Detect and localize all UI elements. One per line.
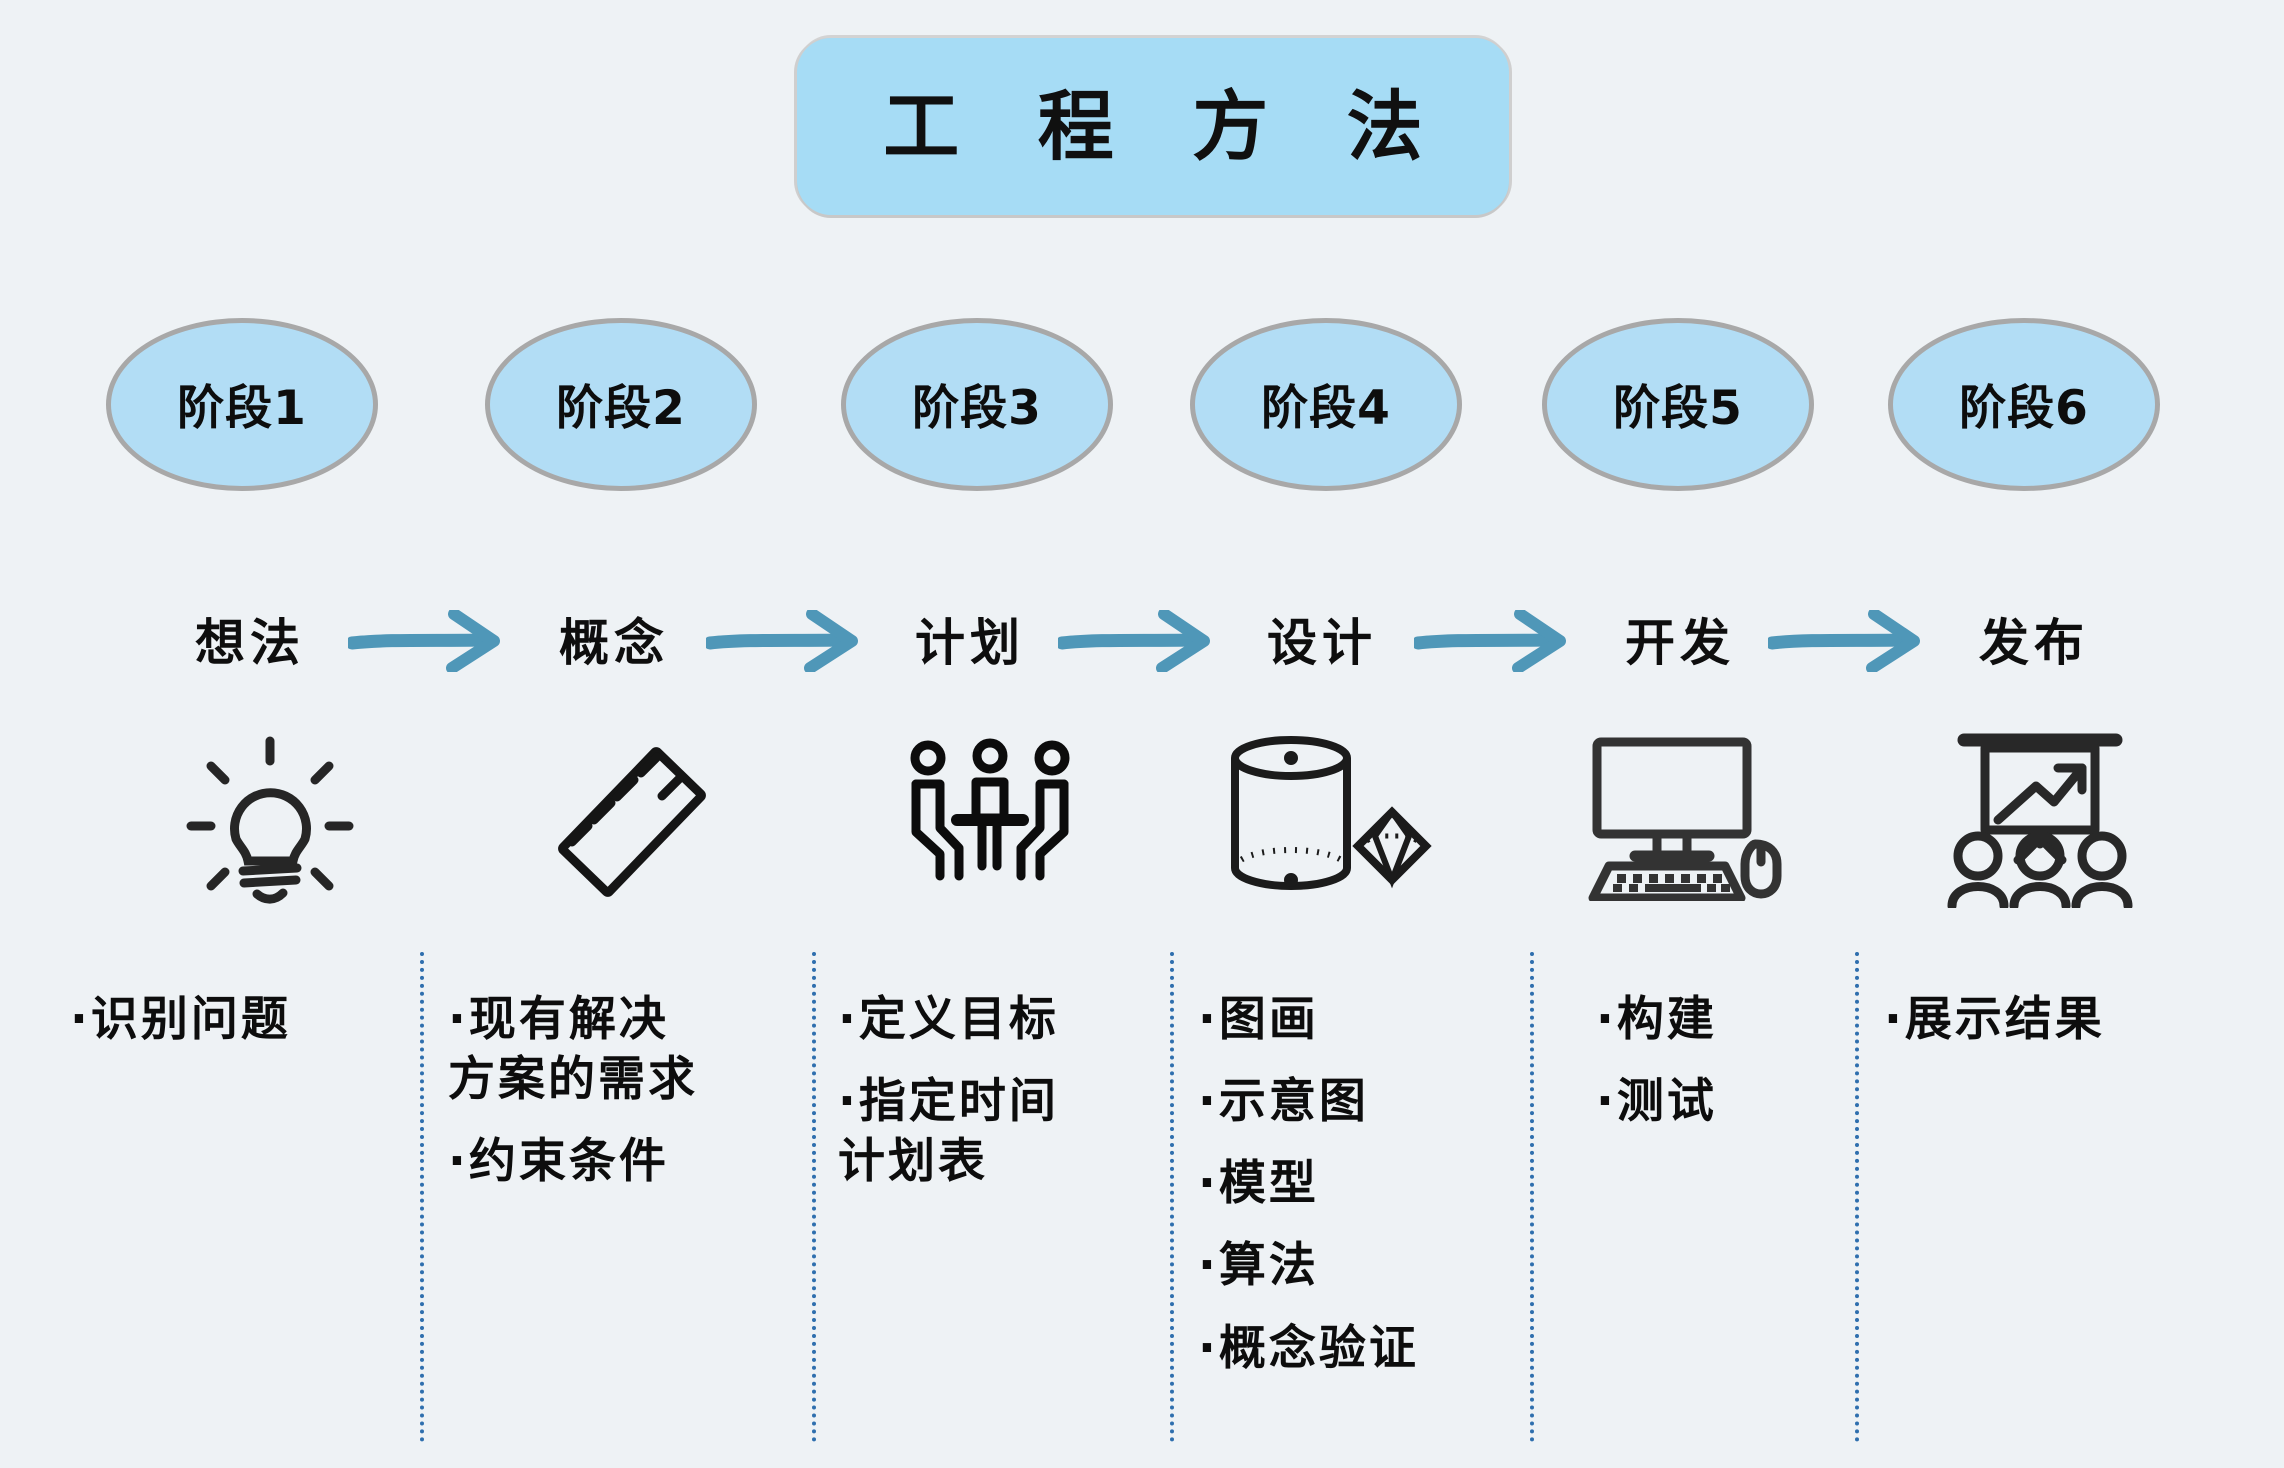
stage-ellipse-5[interactable]: 阶段5 [1542, 318, 1814, 491]
stage-ellipse-label: 阶段3 [912, 369, 1042, 438]
stage-ellipse-2[interactable]: 阶段2 [485, 318, 757, 491]
bullet-dot: · [1198, 1321, 1219, 1376]
arrow-right-icon [1058, 610, 1228, 672]
flow-step-3[interactable]: 计划 [880, 584, 1060, 694]
list-item-text: 测试 [1617, 1074, 1717, 1129]
icon-row [0, 718, 2284, 918]
3d-shapes-cylinder-octahedron-icon [1200, 718, 1460, 918]
bullet-column-6: ·展示结果 [1884, 990, 2214, 1072]
column-divider-2 [812, 952, 816, 1442]
meeting-table-people-icon [870, 718, 1110, 918]
bullet-column-3: ·定义目标 ·指定时间 计划表 [838, 990, 1158, 1214]
list-item-text: 指定时间 计划表 [838, 1074, 1059, 1189]
list-item[interactable]: ·图画 [1198, 990, 1528, 1050]
stage-ellipse-label: 阶段6 [1959, 369, 2089, 438]
list-item[interactable]: ·定义目标 [838, 990, 1158, 1050]
desktop-computer-icon [1560, 718, 1810, 918]
flow-step-6[interactable]: 发布 [1944, 584, 2124, 694]
bullet-dot: · [448, 1134, 469, 1189]
flow-step-4[interactable]: 设计 [1232, 584, 1412, 694]
list-item-text: 现有解决 方案的需求 [448, 992, 698, 1107]
stage-ellipse-label: 阶段5 [1613, 369, 1743, 438]
bullet-dot: · [1596, 992, 1617, 1047]
list-item-text: 图画 [1219, 992, 1319, 1047]
list-item-text: 展示结果 [1905, 992, 2105, 1047]
list-item-text: 识别问题 [91, 992, 291, 1047]
list-item[interactable]: ·指定时间 计划表 [838, 1072, 1158, 1192]
list-item[interactable]: ·识别问题 [70, 990, 400, 1050]
arrow-right-icon [348, 610, 518, 672]
flow-step-1[interactable]: 想法 [160, 584, 340, 694]
presentation-board-audience-icon [1915, 718, 2165, 918]
flow-step-5[interactable]: 开发 [1590, 584, 1770, 694]
list-item[interactable]: ·算法 [1198, 1236, 1528, 1296]
list-item-text: 构建 [1617, 992, 1717, 1047]
column-divider-1 [420, 952, 424, 1442]
bullet-column-2: ·现有解决 方案的需求 ·约束条件 [448, 990, 796, 1214]
bullet-dot: · [838, 992, 859, 1047]
stage-ellipse-3[interactable]: 阶段3 [841, 318, 1113, 491]
column-divider-4 [1530, 952, 1534, 1442]
flow-step-2[interactable]: 概念 [524, 584, 704, 694]
bullet-dot: · [1198, 1238, 1219, 1293]
page-title: 工 程 方 法 [857, 89, 1448, 165]
list-item[interactable]: ·示意图 [1198, 1072, 1528, 1132]
arrow-right-icon [706, 610, 876, 672]
stage-ellipse-label: 阶段2 [556, 369, 686, 438]
bullet-dot: · [1884, 992, 1905, 1047]
bullet-dot: · [1596, 1074, 1617, 1129]
list-item-text: 算法 [1219, 1238, 1319, 1293]
stage-ellipse-row: 阶段1 阶段2 阶段3 阶段4 阶段5 阶段6 [0, 318, 2284, 500]
lightbulb-icon [150, 718, 390, 918]
list-item-text: 定义目标 [859, 992, 1059, 1047]
title-banner: 工 程 方 法 [797, 38, 1509, 215]
list-item-text: 示意图 [1219, 1074, 1369, 1129]
list-item[interactable]: ·现有解决 方案的需求 [448, 990, 796, 1110]
stage-ellipse-4[interactable]: 阶段4 [1190, 318, 1462, 491]
ruler-icon [520, 718, 760, 918]
list-item[interactable]: ·构建 [1596, 990, 1846, 1050]
bullet-column-5: ·构建 ·测试 [1596, 990, 1846, 1154]
bullet-dot: · [448, 992, 469, 1047]
bullet-dot: · [70, 992, 91, 1047]
list-item-text: 模型 [1219, 1156, 1319, 1211]
bullet-dot: · [1198, 992, 1219, 1047]
list-item-text: 概念验证 [1219, 1321, 1419, 1376]
column-divider-3 [1170, 952, 1174, 1442]
process-flow-row: 想法 概念 计划 设计 开发 发布 [0, 584, 2284, 694]
column-divider-5 [1855, 952, 1859, 1442]
list-item[interactable]: ·测试 [1596, 1072, 1846, 1132]
stage-ellipse-6[interactable]: 阶段6 [1888, 318, 2160, 491]
arrow-right-icon [1414, 610, 1584, 672]
list-item-text: 约束条件 [469, 1134, 669, 1189]
list-item[interactable]: ·展示结果 [1884, 990, 2214, 1050]
diagram-canvas: 工 程 方 法 阶段1 阶段2 阶段3 阶段4 阶段5 阶段6 想法 概念 计划… [0, 0, 2284, 1468]
stage-ellipse-1[interactable]: 阶段1 [106, 318, 378, 491]
bullet-column-4: ·图画 ·示意图 ·模型 ·算法 ·概念验证 [1198, 990, 1528, 1401]
bullet-dot: · [1198, 1074, 1219, 1129]
stage-ellipse-label: 阶段4 [1261, 369, 1391, 438]
bullet-dot: · [838, 1074, 859, 1129]
list-item[interactable]: ·模型 [1198, 1154, 1528, 1214]
list-item[interactable]: ·约束条件 [448, 1132, 796, 1192]
bullet-column-1: ·识别问题 [70, 990, 400, 1072]
bullet-dot: · [1198, 1156, 1219, 1211]
stage-ellipse-label: 阶段1 [177, 369, 307, 438]
arrow-right-icon [1768, 610, 1938, 672]
list-item[interactable]: ·概念验证 [1198, 1319, 1528, 1379]
